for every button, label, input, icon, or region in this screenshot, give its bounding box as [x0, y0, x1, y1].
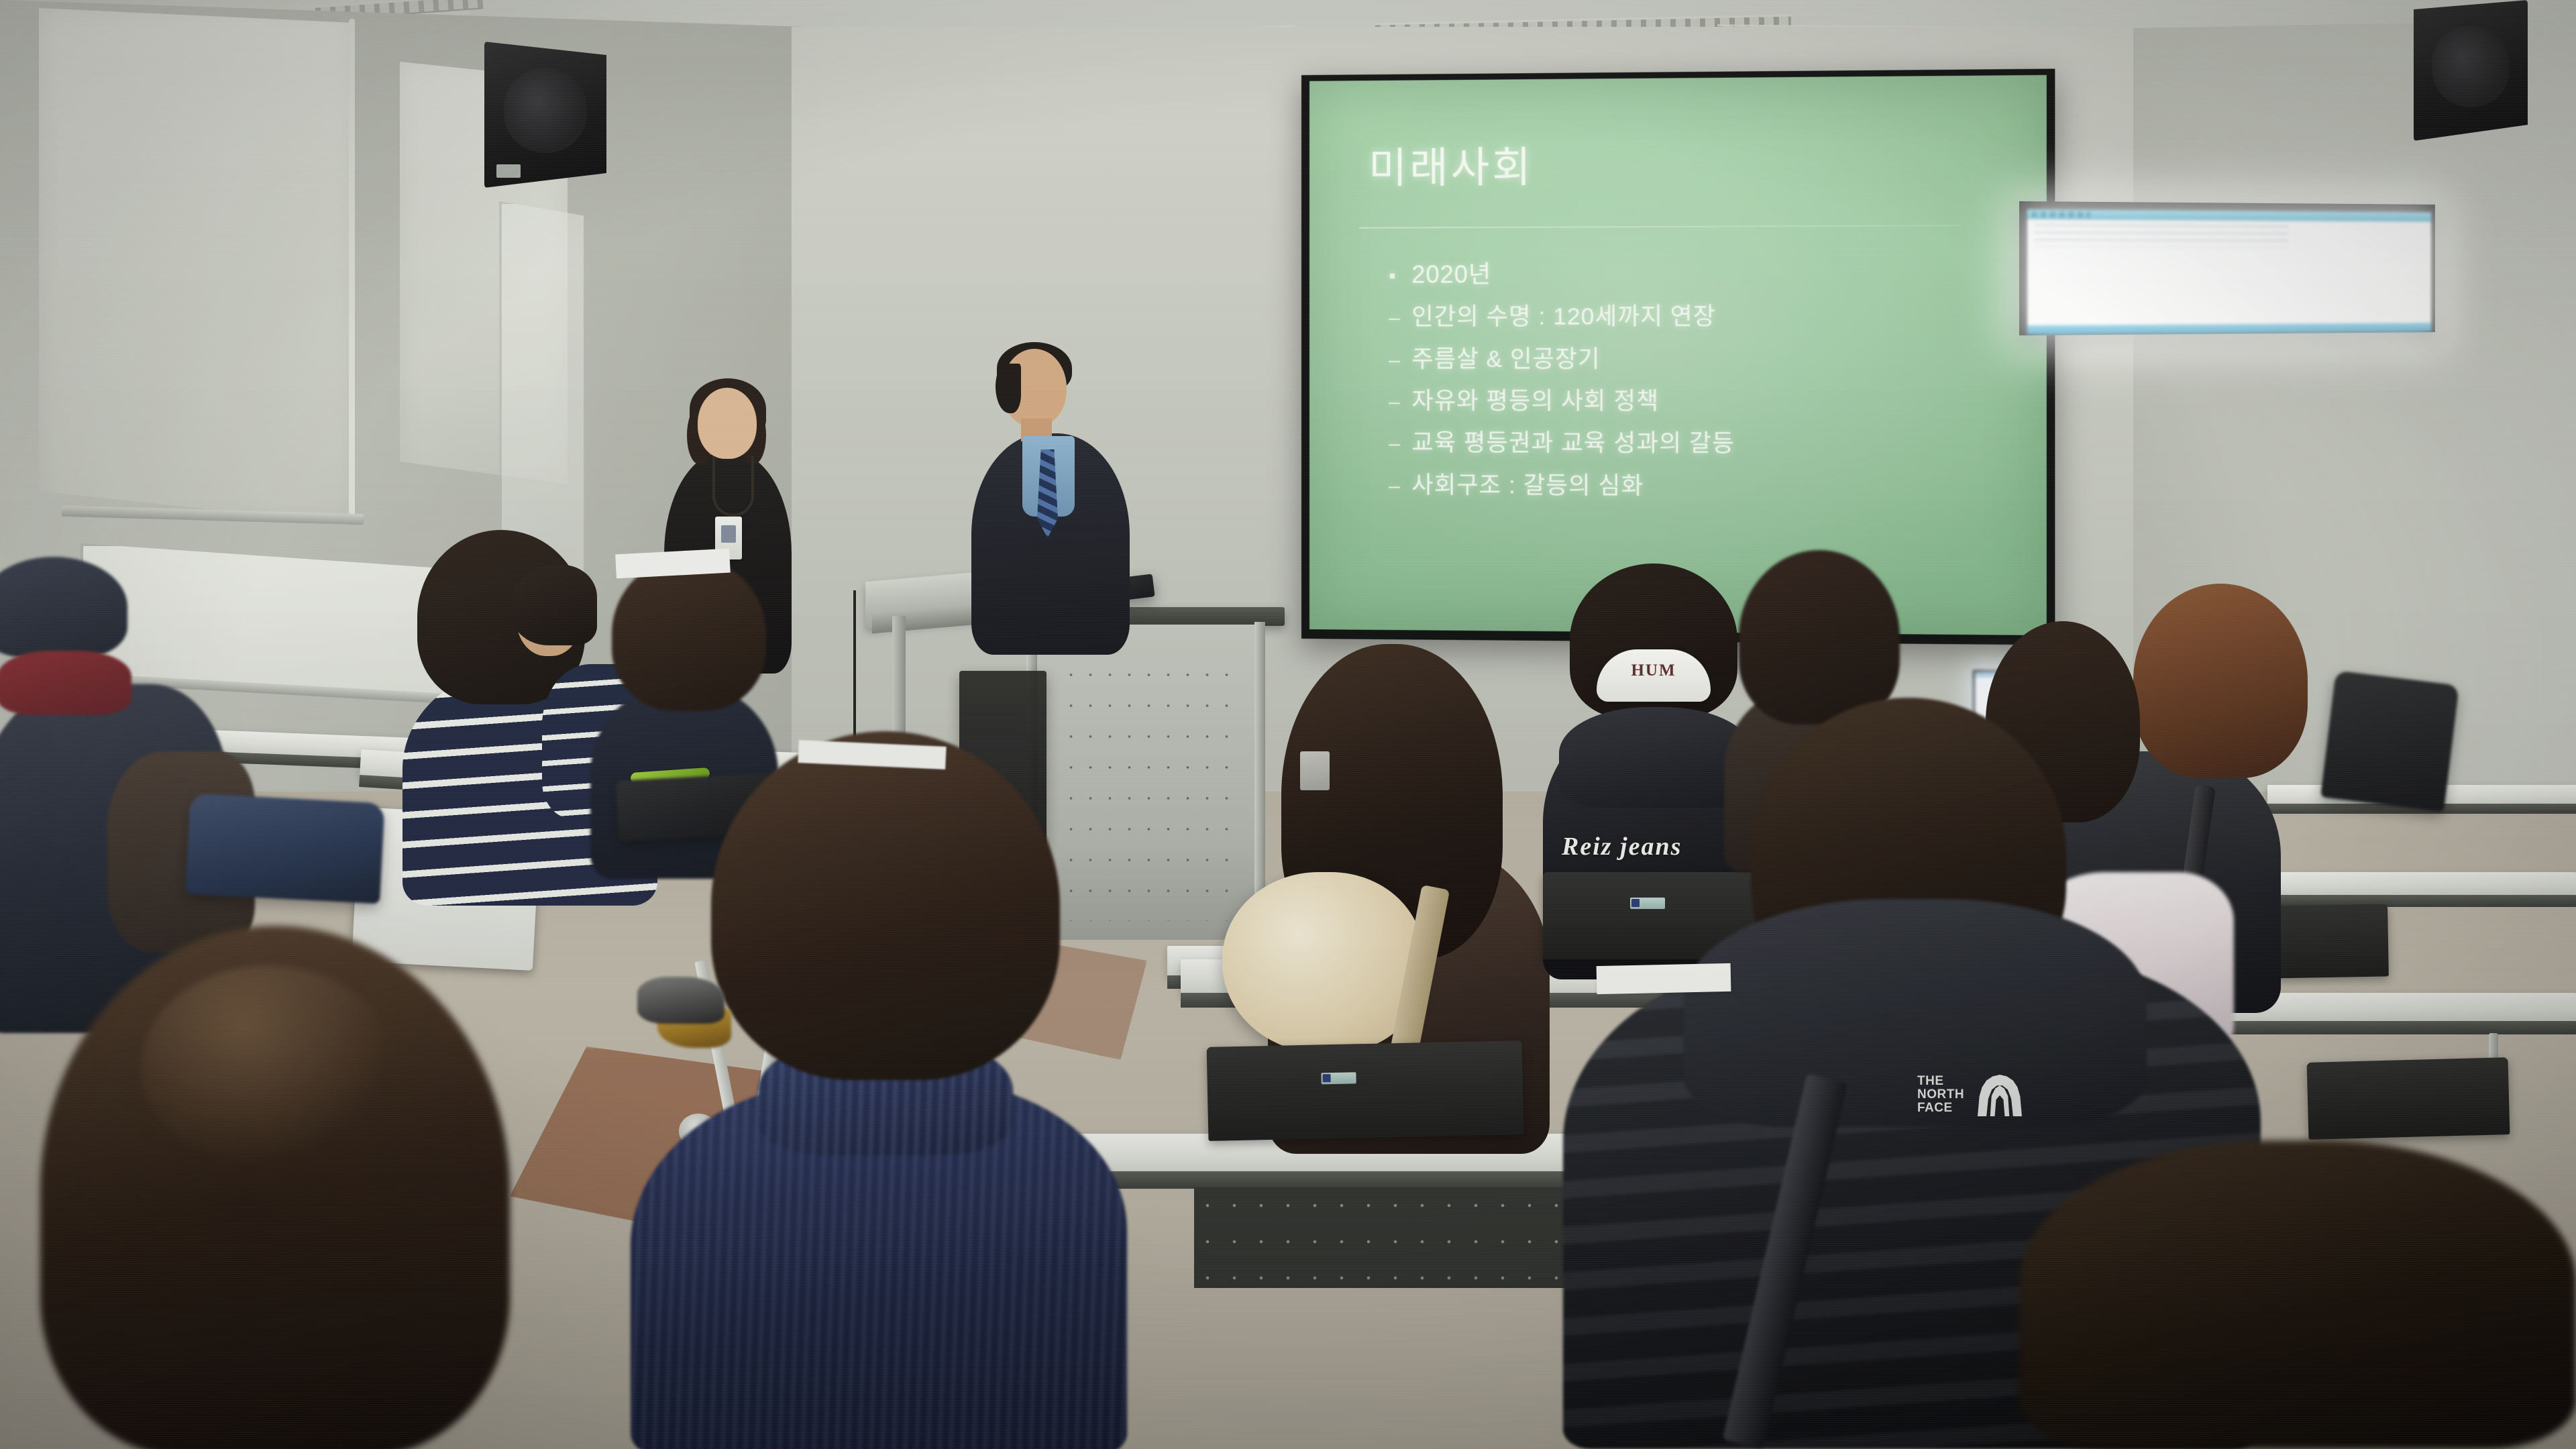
tnf-line-2: NORTH — [1917, 1088, 1964, 1101]
bullet-text: 2020년 — [1411, 260, 1491, 289]
capped-scarf — [0, 651, 131, 715]
projection-screen: 미래사회 ▪ 2020년 – 인간의 수명 : 120세까지 연장 – 주름살 … — [1301, 68, 2055, 645]
bullet-marker: – — [1389, 429, 1411, 455]
student-foreground-far-right — [2019, 1140, 2576, 1449]
window-content-lines — [2034, 224, 2289, 248]
woman-lanyard — [712, 456, 754, 517]
hum-cap: HUM — [1597, 649, 1711, 702]
shoe-upper — [637, 977, 724, 1024]
blind-rod-left — [349, 19, 355, 515]
far-right-hair — [2019, 1140, 2576, 1449]
striped-student-fringe — [510, 565, 597, 645]
tnf-dome-icon — [1978, 1075, 2022, 1116]
projected-slide: 미래사회 ▪ 2020년 – 인간의 수명 : 120세까지 연장 – 주름살 … — [1309, 75, 2047, 635]
bullet-marker: – — [1389, 387, 1411, 413]
window-titlebar-controls — [2031, 211, 2090, 218]
slide-bullet: – 사회구조 : 갈등의 심화 — [1389, 471, 2013, 501]
turtleneck-student-hair — [711, 731, 1060, 1080]
bullet-marker: – — [1389, 303, 1411, 329]
window-blind-upper-left — [39, 8, 354, 525]
bullet-marker: – — [1389, 345, 1411, 371]
backpack-on-right-desk — [2320, 670, 2459, 812]
presenter-man — [971, 349, 1132, 664]
slide-bullet: – 주름살 & 인공장기 — [1389, 345, 2013, 373]
bullet-marker: – — [1389, 471, 1411, 496]
bullet-text: 주름살 & 인공장기 — [1411, 345, 1600, 374]
speaker-cone-icon-right — [2432, 25, 2510, 107]
student-foreground-left — [40, 926, 523, 1449]
paper-on-center-desk — [1597, 963, 1731, 994]
chair-asset-tag — [1321, 1072, 1356, 1084]
tnf-dome-inner-icon — [1988, 1085, 2011, 1116]
whiteboard-left-upper — [499, 201, 586, 577]
slide-bullet: – 인간의 수명 : 120세까지 연장 — [1389, 303, 2013, 331]
fur-bag — [1222, 872, 1424, 1053]
capped-hat-icon — [0, 557, 127, 657]
slide-title: 미래사회 — [1368, 133, 1534, 195]
secondary-projected-window — [2027, 209, 2431, 334]
backpack-on-left-desk — [185, 794, 384, 904]
slide-bullet: – 교육 평등권과 교육 성과의 갈등 — [1389, 429, 2013, 459]
bullet-text: 인간의 수명 : 120세까지 연장 — [1411, 303, 1715, 331]
north-face-hood — [1684, 899, 2147, 1127]
man-hair-side — [996, 364, 1021, 413]
tnf-line-3: FACE — [1917, 1102, 1953, 1114]
hum-cap-text: HUM — [1597, 661, 1711, 680]
wall-speaker-right — [2414, 0, 2528, 141]
tnf-line-1: THE — [1917, 1075, 1944, 1087]
slide-bullet-list: ▪ 2020년 – 인간의 수명 : 120세까지 연장 – 주름살 & 인공장… — [1389, 259, 2013, 516]
bullet-marker: ▪ — [1389, 261, 1411, 286]
speaker-cone-icon — [504, 68, 587, 152]
speaker-label — [496, 164, 521, 178]
student-turtleneck — [631, 731, 1140, 1449]
bullet-text: 사회구조 : 갈등의 심화 — [1411, 471, 1644, 500]
bullet-text: 교육 평등권과 교육 성과의 갈등 — [1411, 429, 1735, 458]
wall-outlet — [1300, 751, 1330, 790]
chair-center-furbag — [1207, 1040, 1524, 1141]
wall-speaker-left — [484, 42, 606, 188]
bullet-text: 자유와 평등의 사회 정책 — [1411, 387, 1659, 415]
chair-right-b — [2307, 1057, 2510, 1140]
foreground-left-hair-highlight — [141, 966, 396, 1167]
slide-bullet: ▪ 2020년 — [1389, 259, 2013, 289]
slide-bullet: – 자유와 평등의 사회 정책 — [1389, 387, 2013, 416]
left-second-hair — [612, 557, 766, 711]
slide-title-rule — [1359, 225, 1962, 228]
north-face-logo: THE NORTH FACE — [1917, 1073, 2022, 1122]
classroom-photo: 미래사회 ▪ 2020년 – 인간의 수명 : 120세까지 연장 – 주름살 … — [0, 0, 2576, 1449]
woman-head — [698, 388, 757, 459]
